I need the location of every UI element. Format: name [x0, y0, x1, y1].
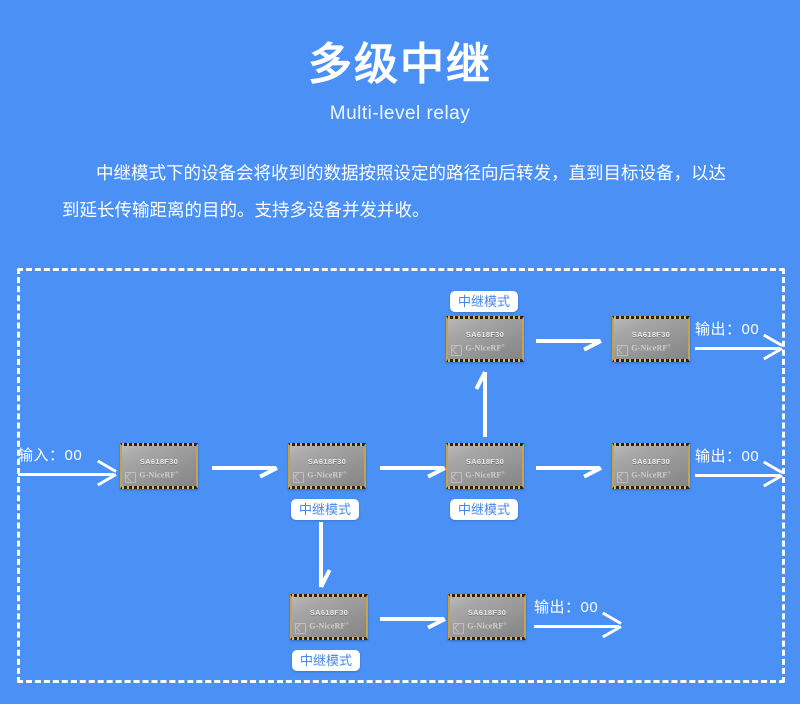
arrow-top-mid-to-top-right [536, 331, 600, 349]
chip-pins-top-icon [448, 316, 522, 319]
output-top-right: 输出：00 [695, 318, 780, 362]
chip-pins-bottom-icon [448, 486, 522, 489]
arrow-head-icon [96, 463, 116, 483]
module-top-right[interactable]: SA618F30 G-NiceRF® [612, 316, 690, 362]
module-mid-2[interactable]: SA618F30 G-NiceRF® [288, 443, 366, 489]
output-bottom: 输出：00 [534, 596, 619, 640]
module-top-mid[interactable]: SA618F30 G-NiceRF® [446, 316, 524, 362]
module-logo-icon [451, 345, 462, 356]
module-name: SA618F30 [450, 608, 524, 617]
arrow-mid1-to-mid2 [212, 458, 276, 476]
arrow-head-icon [260, 459, 277, 476]
chip-pins-bottom-icon [292, 637, 366, 640]
arrow-mid-up-to-top [476, 372, 494, 437]
chip-pins-bottom-icon [450, 637, 524, 640]
page-subtitle: Multi-level relay [0, 103, 800, 125]
module-name: SA618F30 [448, 457, 522, 466]
badge-mid-3: 中继模式 [450, 499, 518, 520]
module-name: SA618F30 [614, 330, 688, 339]
diagram-page: 多级中继 Multi-level relay 中继模式下的设备会将收到的数据按照… [0, 0, 800, 704]
module-mid-4[interactable]: SA618F30 G-NiceRF® [612, 443, 690, 489]
module-name: SA618F30 [292, 608, 366, 617]
arrow-head-icon [428, 459, 445, 476]
module-logo-icon [295, 623, 306, 634]
arrow-head-icon [762, 464, 782, 484]
chip-pins-bottom-icon [290, 486, 364, 489]
arrow-head-icon [319, 568, 337, 587]
arrow-head-icon [584, 332, 601, 349]
module-logo-icon [451, 472, 462, 483]
input-left: 输入：00 [18, 444, 114, 488]
output-label: 输出：00 [695, 445, 759, 466]
module-name: SA618F30 [122, 457, 196, 466]
chip-pins-bottom-icon [614, 359, 688, 362]
arrow-mid-down-to-bottom [312, 522, 330, 587]
module-bottom-2[interactable]: SA618F30 G-NiceRF® [448, 594, 526, 640]
module-logo-icon [293, 472, 304, 483]
module-mid-1[interactable]: SA618F30 G-NiceRF® [120, 443, 198, 489]
page-description: 中继模式下的设备会将收到的数据按照设定的路径向后转发，直到目标设备，以达到延长传… [62, 155, 738, 229]
module-logo-icon [617, 345, 628, 356]
arrow-head-icon [601, 615, 621, 635]
arrow-mid2-to-mid3 [380, 458, 444, 476]
badge-mid-2: 中继模式 [291, 499, 359, 520]
chip-pins-top-icon [614, 443, 688, 446]
chip-pins-bottom-icon [122, 486, 196, 489]
module-logo-icon [453, 623, 464, 634]
arrow-head-icon [584, 459, 601, 476]
chip-pins-top-icon [450, 594, 524, 597]
badge-bottom-1: 中继模式 [292, 650, 360, 671]
arrow-head-icon [483, 372, 501, 391]
arrow-head-icon [428, 610, 445, 627]
module-logo-icon [125, 472, 136, 483]
arrow-bottom1-to-bottom2 [380, 609, 444, 627]
badge-top-mid: 中继模式 [450, 291, 518, 312]
arrow-mid3-to-mid4 [536, 458, 600, 476]
output-mid-right: 输出：00 [695, 445, 780, 489]
chip-pins-top-icon [122, 443, 196, 446]
output-label: 输出：00 [695, 318, 759, 339]
chip-pins-top-icon [614, 316, 688, 319]
output-label: 输出：00 [534, 596, 598, 617]
chip-pins-bottom-icon [448, 359, 522, 362]
chip-pins-top-icon [290, 443, 364, 446]
chip-pins-top-icon [448, 443, 522, 446]
module-bottom-1[interactable]: SA618F30 G-NiceRF® [290, 594, 368, 640]
input-label: 输入：00 [18, 444, 82, 465]
chip-pins-top-icon [292, 594, 366, 597]
arrow-head-icon [762, 337, 782, 357]
page-title: 多级中继 [0, 42, 800, 88]
module-logo-icon [617, 472, 628, 483]
chip-pins-bottom-icon [614, 486, 688, 489]
module-name: SA618F30 [448, 330, 522, 339]
module-name: SA618F30 [614, 457, 688, 466]
module-name: SA618F30 [290, 457, 364, 466]
module-mid-3[interactable]: SA618F30 G-NiceRF® [446, 443, 524, 489]
